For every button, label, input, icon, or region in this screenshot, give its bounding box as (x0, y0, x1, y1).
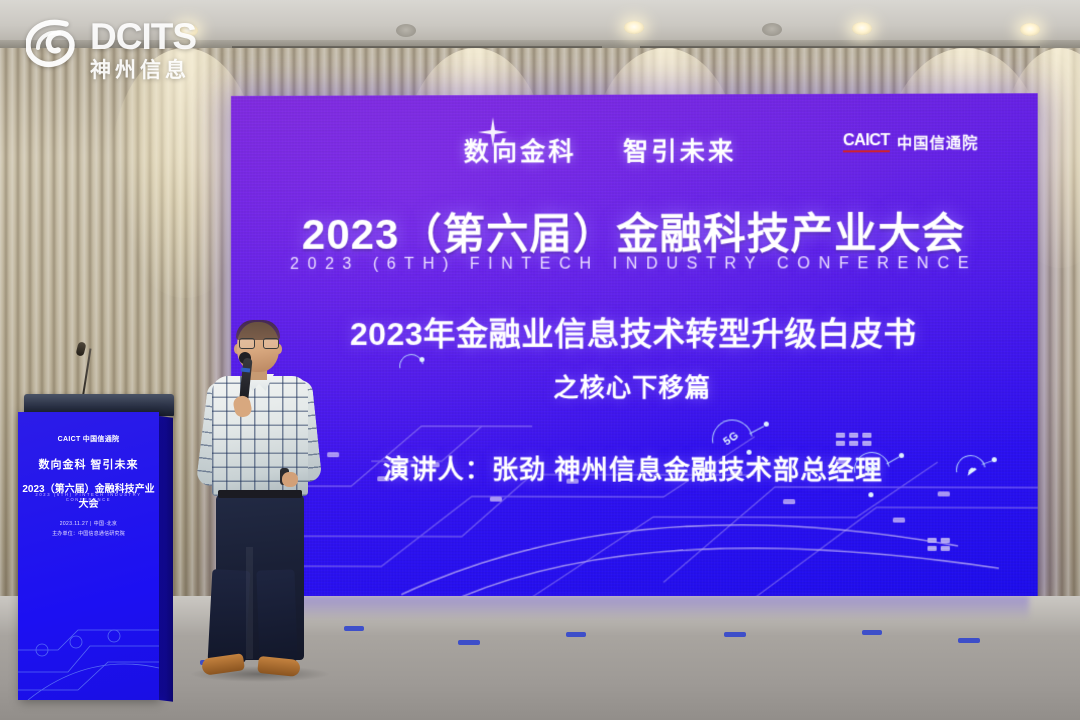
lectern-side-panel (159, 416, 173, 702)
person-leg-right (256, 569, 297, 662)
floor-marker (344, 626, 364, 631)
conference-stage-photo: CAICT 中国信通院 数向金科 智引未来 2023（第六届）金融科技产业大会 … (0, 0, 1080, 720)
led-stage-screen: CAICT 中国信通院 数向金科 智引未来 2023（第六届）金融科技产业大会 … (231, 93, 1038, 599)
slogan-right: 智引未来 (623, 138, 736, 166)
caict-name-cn: 中国信通院 (897, 132, 979, 153)
watermark-brand-cn: 神州信息 (90, 60, 196, 81)
conference-title-cn: 2023（第六届）金融科技产业大会 (231, 199, 1038, 262)
cloud-glyph: ☁ (951, 450, 989, 488)
person-hand-right (282, 472, 298, 487)
screen-slogan: 数向金科 智引未来 (464, 132, 737, 169)
person-hair (236, 320, 280, 340)
person-leg-left (208, 569, 251, 663)
slogan-left: 数向金科 (464, 138, 577, 166)
speaker-person (196, 322, 326, 696)
spotlight-icon (624, 21, 644, 34)
lectern-organizer-logo: CAICT 中国信通院 (18, 434, 159, 444)
five-g-node-icon: 5G (712, 419, 751, 457)
lectern-date-location: 2023.11.27 | 中国·北京 (18, 520, 159, 527)
lectern: CAICT 中国信通院 数向金科 智引未来 2023（第六届）金融科技产业大会 … (18, 412, 173, 702)
floor-marker (458, 640, 480, 645)
watermark-brand-en: DCITS (90, 18, 196, 55)
speaker-credit-line: 演讲人：张劲 神州信息金融技术部总经理 (231, 449, 1038, 488)
dcits-swirl-icon (26, 18, 82, 68)
caict-mark: CAICT (843, 133, 890, 152)
five-g-label: 5G (705, 412, 759, 465)
dcits-watermark: DCITS 神州信息 (26, 18, 196, 81)
lectern-host: 主办单位：中国信息通信研究院 (18, 530, 159, 537)
floor-marker (566, 632, 586, 637)
conference-title-en: 2023 (6TH) FINTECH INDUSTRY CONFERENCE (231, 255, 1038, 274)
person-leg-gap (246, 547, 253, 659)
chip-node-icon (399, 354, 421, 376)
lectern-slogan: 数向金科 智引未来 (18, 456, 159, 472)
glasses-icon (239, 338, 277, 347)
led-floor-reflection (231, 596, 1029, 620)
floor-marker (862, 630, 882, 635)
microphone-band (241, 368, 250, 373)
cloud-node-icon: ☁ (956, 455, 984, 482)
lectern-front-panel: CAICT 中国信通院 数向金科 智引未来 2023（第六届）金融科技产业大会 … (18, 412, 159, 700)
spotlight-icon (1020, 23, 1040, 36)
spotlight-icon (852, 22, 872, 35)
spotlight-icon (396, 24, 416, 37)
floor-marker (724, 632, 746, 637)
ai-label: AI (848, 445, 895, 491)
spotlight-icon (762, 23, 782, 36)
lectern-title-en: 2023 (6TH) FINTECH INDUSTRY CONFERENCE (18, 492, 159, 502)
caict-logo: CAICT 中国信通院 (843, 132, 978, 154)
lectern-circuit-decoration (18, 580, 159, 700)
person-belt (218, 490, 302, 498)
floor-marker (958, 638, 980, 643)
ai-node-icon: AI (854, 452, 888, 485)
topic-title-line1: 2023年金融业信息技术转型升级白皮书 (231, 309, 1038, 356)
topic-title-line2: 之核心下移篇 (231, 368, 1038, 405)
